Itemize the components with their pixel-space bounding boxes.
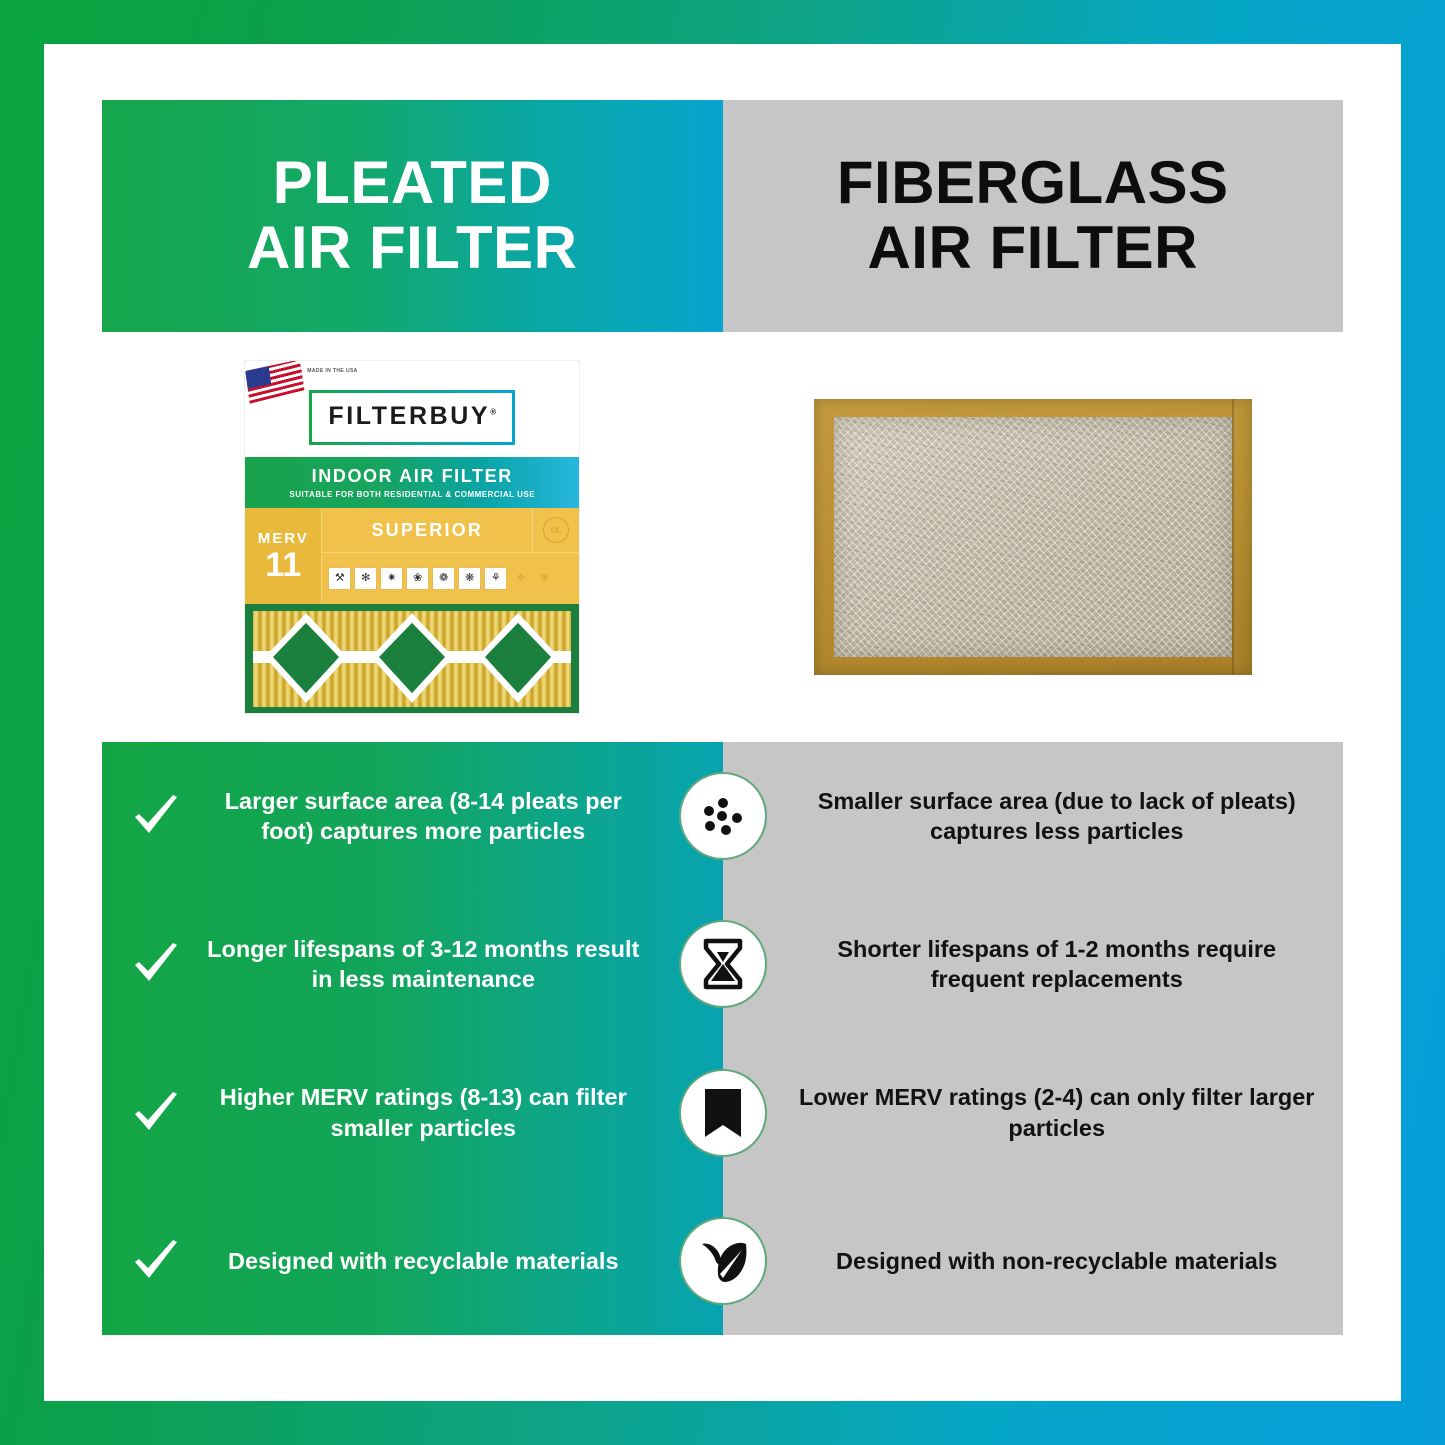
box-feature-icons: ⚒ ✻ ✷ ❀ ❁ ❋ ⚘ ❖ ✾ — [322, 553, 579, 604]
mold-icon: ❀ — [406, 567, 429, 590]
checkmark-icon — [128, 937, 184, 991]
feature-text-fiberglass: Smaller surface area (due to lack of ple… — [797, 786, 1318, 847]
brand-name: FILTERBUY — [328, 402, 490, 430]
filterbuy-box-image: MADE IN THE USA FILTERBUY® INDOOR AIR FI… — [245, 361, 579, 713]
box-top-section: MADE IN THE USA FILTERBUY® — [245, 361, 579, 457]
feature-text-pleated: Designed with recyclable materials — [198, 1246, 649, 1277]
box-merv-section: MERV 11 SUPERIOR UL — [245, 508, 579, 604]
box-banner: INDOOR AIR FILTER SUITABLE FOR BOTH RESI… — [245, 457, 579, 508]
allergen-icon: ⚘ — [484, 567, 507, 590]
feature-comparison: Larger surface area (8-14 pleats per foo… — [102, 742, 1343, 1335]
smoke-icon: ❁ — [432, 567, 455, 590]
box-merv-right: SUPERIOR UL ⚒ ✻ ✷ ❀ — [322, 508, 579, 604]
feature-row: Smaller surface area (due to lack of ple… — [723, 742, 1344, 890]
fiberglass-feature-column: Smaller surface area (due to lack of ple… — [723, 742, 1344, 1335]
pollen-icon: ✻ — [354, 567, 377, 590]
poster-inner: PLEATED AIR FILTER FIBERGLASS AIR FILTER… — [44, 44, 1401, 1401]
checkmark-icon — [128, 1234, 184, 1288]
particle-icon: ❖ — [510, 568, 531, 589]
feature-row: Designed with recyclable materials — [102, 1187, 723, 1335]
checkmark-icon — [128, 1086, 184, 1140]
checkmark-icon — [128, 789, 184, 843]
merv-value: 11 — [265, 548, 301, 582]
feature-text-fiberglass: Designed with non-recyclable materials — [797, 1246, 1318, 1277]
header-fiberglass-title: FIBERGLASS AIR FILTER — [837, 151, 1229, 281]
feature-row: Designed with non-recyclable materials — [723, 1187, 1344, 1335]
box-filter-media: FILTERBUY — [245, 604, 579, 713]
pet-dander-icon: ❋ — [458, 567, 481, 590]
header-pleated-title: PLEATED AIR FILTER — [247, 151, 578, 281]
feature-row: Higher MERV ratings (8-13) can filter sm… — [102, 1039, 723, 1187]
fiberglass-mesh-texture — [834, 417, 1232, 657]
feature-row: Lower MERV ratings (2-4) can only filter… — [723, 1039, 1344, 1187]
header-pleated: PLEATED AIR FILTER — [102, 100, 723, 332]
feature-text-fiberglass: Shorter lifespans of 1-2 months require … — [797, 934, 1318, 995]
tier-row: SUPERIOR UL — [322, 508, 579, 553]
pleated-image-cell: MADE IN THE USA FILTERBUY® INDOOR AIR FI… — [102, 332, 723, 742]
feature-text-pleated: Longer lifespans of 3-12 months result i… — [198, 934, 649, 995]
pleated-media-texture — [253, 611, 571, 707]
certification-seal: UL — [532, 508, 579, 552]
merv-label: MERV — [258, 530, 309, 547]
feature-row: Longer lifespans of 3-12 months result i… — [102, 890, 723, 1038]
product-image-row: MADE IN THE USA FILTERBUY® INDOOR AIR FI… — [102, 332, 1343, 742]
feature-row: Shorter lifespans of 1-2 months require … — [723, 890, 1344, 1038]
made-in-usa-label: MADE IN THE USA — [307, 368, 357, 376]
pleated-feature-column: Larger surface area (8-14 pleats per foo… — [102, 742, 723, 1335]
fiberglass-filter-image — [814, 399, 1252, 675]
box-banner-title: INDOOR AIR FILTER — [245, 466, 579, 487]
comparison-infographic: PLEATED AIR FILTER FIBERGLASS AIR FILTER… — [102, 100, 1343, 1343]
fiberglass-image-cell — [723, 332, 1344, 742]
tier-label: SUPERIOR — [322, 520, 532, 541]
ul-seal-icon: UL — [543, 517, 569, 543]
usa-flag-icon — [245, 361, 305, 405]
feature-text-pleated: Larger surface area (8-14 pleats per foo… — [198, 786, 649, 847]
box-banner-subtitle: SUITABLE FOR BOTH RESIDENTIAL & COMMERCI… — [245, 490, 579, 499]
poster-frame: PLEATED AIR FILTER FIBERGLASS AIR FILTER… — [0, 0, 1445, 1445]
dust-icon: ⚒ — [328, 567, 351, 590]
brand-logo-text: FILTERBUY® — [328, 402, 496, 431]
brand-logo-frame: FILTERBUY® — [309, 390, 515, 445]
support-lattice-icon — [253, 611, 571, 707]
feature-row: Larger surface area (8-14 pleats per foo… — [102, 742, 723, 890]
virus-icon: ✾ — [534, 568, 555, 589]
feature-text-fiberglass: Lower MERV ratings (2-4) can only filter… — [797, 1082, 1318, 1143]
merv-badge: MERV 11 — [245, 508, 322, 604]
header-row: PLEATED AIR FILTER FIBERGLASS AIR FILTER — [102, 100, 1343, 332]
bacteria-icon: ✷ — [380, 567, 403, 590]
registered-mark: ® — [490, 407, 496, 416]
feature-text-pleated: Higher MERV ratings (8-13) can filter sm… — [198, 1082, 649, 1143]
header-fiberglass: FIBERGLASS AIR FILTER — [723, 100, 1344, 332]
